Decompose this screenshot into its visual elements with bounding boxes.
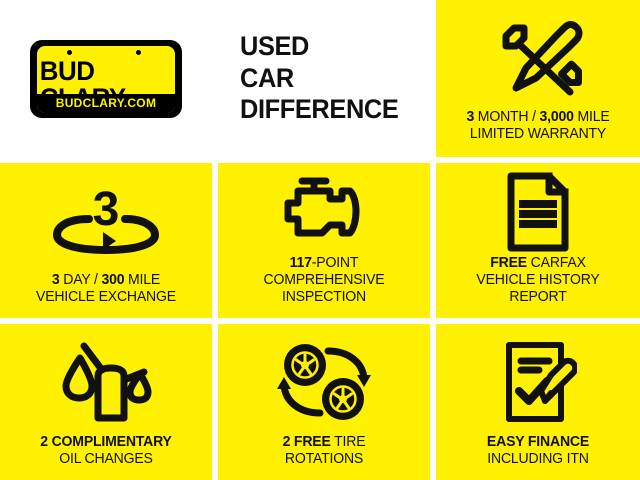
caption-line-1: 117-POINT bbox=[227, 255, 421, 272]
feature-cell-exchange: 3 3 DAY / 300 MILE VEHICLE EXCHANGE bbox=[0, 163, 212, 318]
dealer-website: BUDCLARY.COM bbox=[56, 97, 157, 109]
caption-line-1: 3 MONTH / 3,000 MILE bbox=[445, 109, 631, 126]
caption-line-2: INCLUDING ITN bbox=[445, 451, 631, 468]
feature-caption: FREE CARFAX VEHICLE HISTORY REPORT bbox=[439, 255, 637, 318]
feature-caption: 3 DAY / 300 MILE VEHICLE EXCHANGE bbox=[3, 272, 209, 318]
headline-line-1: USED bbox=[240, 31, 398, 63]
feature-cell-inspection: 117-POINT COMPREHENSIVE INSPECTION bbox=[218, 163, 430, 318]
caption-line-1: 3 DAY / 300 MILE bbox=[9, 272, 203, 289]
contract-pen-icon bbox=[436, 324, 640, 434]
plate-bolt-left-icon bbox=[67, 50, 72, 55]
dealer-logo-cell: BUD CLARY BUDCLARY.COM bbox=[0, 0, 212, 157]
caption-line-2: OIL CHANGES bbox=[9, 451, 203, 468]
caption-line-1: 2 FREE TIRE bbox=[227, 434, 421, 451]
feature-cell-oil-changes: 2 COMPLIMENTARY OIL CHANGES bbox=[0, 324, 212, 480]
caption-line-3: INSPECTION bbox=[227, 289, 421, 306]
engine-icon bbox=[218, 163, 430, 255]
wrench-screwdriver-icon bbox=[436, 0, 640, 109]
feature-caption: 2 COMPLIMENTARY OIL CHANGES bbox=[3, 434, 209, 480]
headline-line-2: CAR bbox=[240, 63, 398, 95]
feature-cell-tire-rotations: 2 FREE TIRE ROTATIONS bbox=[218, 324, 430, 480]
caption-line-2: VEHICLE EXCHANGE bbox=[9, 289, 203, 306]
license-plate-logo: BUD CLARY BUDCLARY.COM bbox=[30, 40, 182, 118]
three-rotation-icon: 3 bbox=[0, 163, 212, 272]
license-plate-inner: BUD CLARY BUDCLARY.COM bbox=[37, 46, 175, 113]
caption-line-2: ROTATIONS bbox=[227, 451, 421, 468]
feature-caption: 3 MONTH / 3,000 MILE LIMITED WARRANTY bbox=[439, 109, 637, 157]
headline-line-3: DIFFERENCE bbox=[240, 94, 398, 126]
oil-can-icon bbox=[0, 324, 212, 434]
svg-text:3: 3 bbox=[93, 183, 120, 236]
tire-rotation-icon bbox=[218, 324, 430, 434]
plate-bolt-right-icon bbox=[136, 50, 141, 55]
feature-caption: EASY FINANCE INCLUDING ITN bbox=[439, 434, 637, 480]
feature-cell-easy-finance: EASY FINANCE INCLUDING ITN bbox=[436, 324, 640, 480]
caption-line-1: 2 COMPLIMENTARY bbox=[9, 434, 203, 451]
caption-line-1: FREE CARFAX bbox=[445, 255, 631, 272]
used-car-difference-board: BUD CLARY BUDCLARY.COM USED CAR DIFFEREN… bbox=[0, 0, 640, 480]
caption-line-2: COMPREHENSIVE bbox=[227, 272, 421, 289]
feature-cell-warranty: 3 MONTH / 3,000 MILE LIMITED WARRANTY bbox=[436, 0, 640, 157]
page-title: USED CAR DIFFERENCE bbox=[240, 31, 398, 127]
feature-caption: 117-POINT COMPREHENSIVE INSPECTION bbox=[221, 255, 427, 318]
caption-line-1: EASY FINANCE bbox=[445, 434, 631, 451]
feature-caption: 2 FREE TIRE ROTATIONS bbox=[221, 434, 427, 480]
headline-cell: USED CAR DIFFERENCE bbox=[218, 0, 430, 157]
plate-url-band: BUDCLARY.COM bbox=[37, 94, 175, 113]
caption-line-2: VEHICLE HISTORY bbox=[445, 272, 631, 289]
caption-line-3: REPORT bbox=[445, 289, 631, 306]
document-lines-icon bbox=[436, 163, 640, 255]
caption-line-2: LIMITED WARRANTY bbox=[445, 126, 631, 143]
feature-cell-carfax: FREE CARFAX VEHICLE HISTORY REPORT bbox=[436, 163, 640, 318]
